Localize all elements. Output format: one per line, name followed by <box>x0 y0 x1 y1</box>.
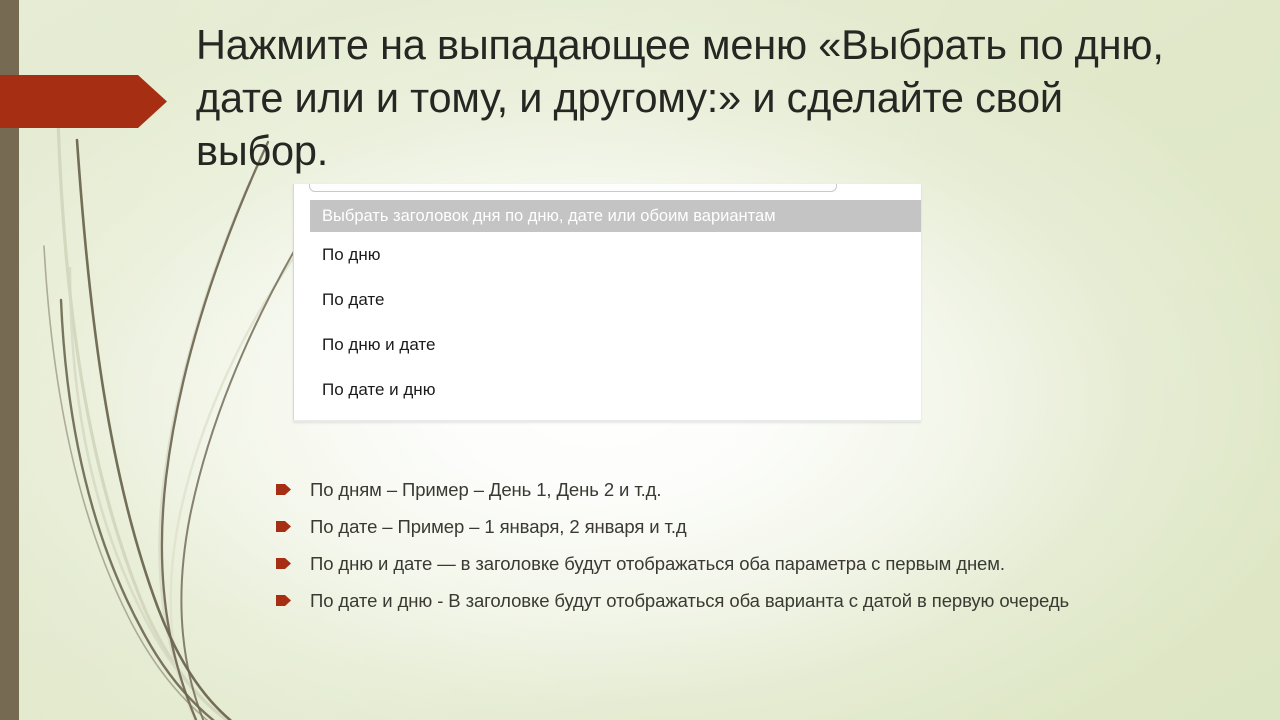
list-item-label: По дате – Пример – 1 января, 2 января и … <box>310 514 1206 539</box>
list-item: По дате – Пример – 1 января, 2 января и … <box>276 514 1206 539</box>
list-item-label: По дням – Пример – День 1, День 2 и т.д. <box>310 477 1206 502</box>
list-item-label: По дню и дате — в заголовке будут отобра… <box>310 551 1206 576</box>
cropped-input-field <box>309 184 837 192</box>
slide-title: Нажмите на выпадающее меню «Выбрать по д… <box>196 18 1196 177</box>
dropdown-screenshot: Выбрать заголовок дня по дню, дате или о… <box>293 184 921 422</box>
arrow-bullet-icon <box>276 484 291 495</box>
slide: Нажмите на выпадающее меню «Выбрать по д… <box>0 0 1280 720</box>
dropdown-option-by-date-and-day[interactable]: По дате и дню <box>310 367 921 412</box>
accent-arrow-banner <box>0 75 167 128</box>
list-item: По дням – Пример – День 1, День 2 и т.д. <box>276 477 1206 502</box>
list-item-label: По дате и дню - В заголовке будут отобра… <box>310 588 1206 613</box>
dropdown-header-label: Выбрать заголовок дня по дню, дате или о… <box>310 200 921 232</box>
bullet-list: По дням – Пример – День 1, День 2 и т.д.… <box>276 477 1206 625</box>
list-item: По дате и дню - В заголовке будут отобра… <box>276 588 1206 613</box>
screenshot-left-edge <box>293 184 294 422</box>
dropdown-option-by-date[interactable]: По дате <box>310 277 921 322</box>
dropdown-option-by-day[interactable]: По дню <box>310 232 921 277</box>
arrow-bullet-icon <box>276 521 291 532</box>
dropdown-option-by-day-and-date[interactable]: По дню и дате <box>310 322 921 367</box>
arrow-bullet-icon <box>276 558 291 569</box>
list-item: По дню и дате — в заголовке будут отобра… <box>276 551 1206 576</box>
arrow-bullet-icon <box>276 595 291 606</box>
dropdown-option-list: По дню По дате По дню и дате По дате и д… <box>310 232 921 422</box>
dropdown-screenshot-canvas: Выбрать заголовок дня по дню, дате или о… <box>293 184 921 422</box>
screenshot-bottom-edge <box>293 420 921 422</box>
